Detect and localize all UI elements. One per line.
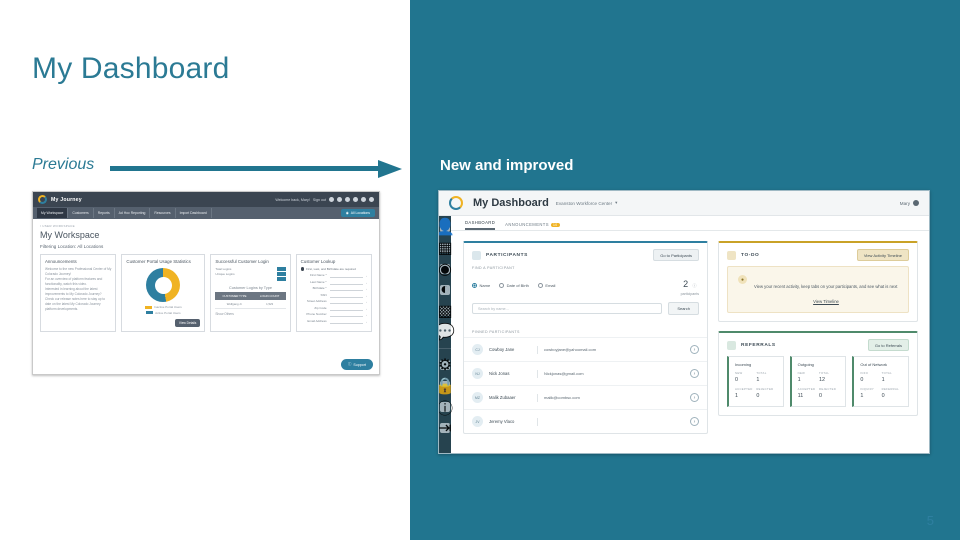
participant-count-block: 2 ⓘ participants [681,274,699,296]
stat-value: 0 [756,394,777,400]
avatar [913,200,919,206]
stat-key: NEW [735,371,756,375]
lookup-field-7[interactable]: Email Address› [301,320,367,324]
announcements-badge: 10 [551,223,560,227]
col-customer-type: CUSTOMER TYPE [215,292,253,300]
user-name: Mary [900,201,910,206]
go-to-participants-button[interactable]: Go to Participants [653,249,699,261]
all-locations-label: All Locations [351,211,370,215]
list-item[interactable]: CJ Cowboy Jane cowboyjane@yahoomail.com … [464,337,707,361]
participant-name: Malik Zubaaer [489,395,531,400]
old-nav-item-3[interactable]: Ad Hoc Reporting [115,208,151,218]
usage-legend: Inactive Portal Users Active Portal User… [126,305,200,315]
lookup-field-6[interactable]: Phone Number› [301,313,367,317]
chevron-down-icon: › [366,281,367,285]
input-street-address[interactable] [330,300,363,304]
chevron-down-icon: › [366,320,367,324]
radio-date-of-birth[interactable]: Date of Birth [499,283,529,288]
label-ssn: SSN [301,294,327,297]
lookup-field-1[interactable]: Last Name *› [301,281,367,285]
slide-page-number: 5 [927,513,934,528]
legend-swatch-active [146,311,153,314]
list-item[interactable]: NJ Nick Jonas Nickjonas@gmail.com › [464,361,707,385]
stat-value: 0 [882,394,903,400]
participants-card-body: FIND A PARTICIPANT Name [464,266,707,323]
tools-icon[interactable] [353,197,358,202]
welcome-text: Welcome back, Mary! [275,198,309,202]
participant-name: Jeremy Vlaco [489,419,531,424]
support-label: Support [353,363,366,367]
chevron-down-icon: › [366,294,367,298]
lookup-field-0[interactable]: First Name *› [301,274,367,278]
usage-donut-chart [146,268,180,302]
radio-email[interactable]: Email [538,283,556,288]
stat-value: 0 [860,378,881,384]
logins-by-type-title: Customer Logins by Type [215,286,285,290]
old-brand-name: My Journey [51,197,82,203]
radio-name-label: Name [480,283,491,288]
tab-announcements-label: ANNOUNCEMENTS [505,222,549,227]
todo-card-body: ● View your recent activity, keep tabs o… [719,266,917,321]
sidebar-gear-icon[interactable]: ⚙ [440,360,450,370]
avatar: JV [472,416,483,427]
participants-title: PARTICIPANTS [486,253,528,258]
stat-value: 1 [860,394,881,400]
tab-announcements[interactable]: ANNOUNCEMENTS10 [505,222,559,230]
transition-arrow-icon [110,160,410,178]
referral-stat-grid: INFO TOTAL 0 1 INQUIRY REFERRAL 1 0 [860,371,903,400]
old-nav-item-2[interactable]: Reports [94,208,115,218]
sidebar-person-icon[interactable]: 👤 [440,222,450,232]
help-icon[interactable] [329,197,334,202]
stat-key: INQUIRY [860,387,881,391]
workspace-heading: My Workspace [40,230,372,240]
old-nav-item-5[interactable]: Import Dashboard [176,208,212,218]
radio-name-dot [472,283,477,288]
participant-name: Cowboy Jane [489,347,531,352]
previous-dashboard-screenshot: My Journey Welcome back, Mary! Sign out … [32,191,380,375]
new-label: New and improved [440,157,573,174]
lookup-title: Customer Lookup [301,259,367,264]
participant-count-row: 2 ⓘ [681,274,699,292]
content-tabs: DASHBOARD ANNOUNCEMENTS10 [451,216,930,231]
view-details-button[interactable]: View Details [175,319,200,327]
participants-icon [472,251,481,260]
stat-key: TOTAL [882,371,903,375]
participants-column: PARTICIPANTS Go to Participants FIND A P… [463,241,708,443]
label-email-address: Email Address [301,320,327,323]
label-first-name: First Name * [301,274,327,277]
announcement-line-1: For an overview of platform features and… [45,277,111,287]
avatar: CJ [472,344,483,355]
referral-card-out-of-network: Out of Network INFO TOTAL 0 1 INQUIRY RE… [852,356,909,407]
lookup-field-3[interactable]: SSN› [301,294,367,298]
old-top-bar: My Journey Welcome back, Mary! Sign out [33,192,379,207]
old-nav-item-1[interactable]: Customers [68,208,93,218]
print-icon[interactable] [345,197,350,202]
new-dashboard-screenshot: My Dashboard Evanston Workforce Center ▾… [438,190,930,454]
announcement-line-3: Check our release notes here to stay up … [45,297,111,312]
bell-icon: ● [738,275,747,284]
arrow-line [110,166,382,171]
legend-label-inactive: Inactive Portal Users [154,305,182,309]
radio-name[interactable]: Name [472,283,490,288]
sidebar-logout-icon[interactable]: ⇥ [440,423,450,433]
radio-dob-label: Date of Birth [507,283,529,288]
avatar: NJ [472,368,483,379]
pinned-participants-label: PINNED PARTICIPANTS [464,323,707,337]
lookup-note: First, Last, and Birthdate are required [301,267,367,271]
list-item[interactable]: MZ Malik Zubaaer malik@combsc.com › [464,385,707,409]
login-stat-1: Unique Logins [215,272,234,277]
stat-value: 11 [798,394,819,400]
usage-statistics-card: Customer Portal Usage Statistics Inactiv… [121,254,205,332]
stat-value: 12 [819,378,840,384]
legend-item-active: Active Portal Users [146,311,181,315]
gear-icon[interactable] [337,197,342,202]
referrals-card: REFERRALS Go to Referrals Incoming NEW [718,331,918,416]
sidebar-pie-icon[interactable]: ◐ [440,285,450,295]
referrals-title: REFERRALS [741,343,776,348]
participant-search-row: Search by name... Search [472,302,699,315]
referral-card-title: Out of Network [860,362,903,367]
input-last-name[interactable] [330,281,363,285]
old-top-right-area: Welcome back, Mary! Sign out [275,197,374,202]
my-journey-logo-icon [38,195,47,204]
new-app-main: 👤 ▦ ◉ ◐ ▩ 💬 ⚙ 🔒 ⓘ ⇥ DASHBOARD ANNOUNCEME… [439,216,929,454]
breadcrumb: / USER WORKSPACE [40,224,372,228]
stat-key: NEW [798,371,819,375]
label-street-address: Street Address [301,300,327,303]
referral-stat-grid: NEW TOTAL 1 12 ACCEPTED REJECTED 11 0 [798,371,841,400]
legend-label-active: Active Portal Users [155,311,181,315]
usage-title: Customer Portal Usage Statistics [126,259,200,264]
go-to-referrals-button[interactable]: Go to Referrals [868,339,909,351]
announcement-line-2: Interested in learning about the latest … [45,287,111,297]
cell-type: Wolfgang Jr. [215,300,253,309]
lookup-field-5[interactable]: Zip Code› [301,307,367,311]
cell-count: 1,523 [254,300,286,309]
legend-swatch-inactive [145,306,152,309]
participant-count: 2 [683,279,688,289]
col-login-count: LOGIN COUNT [254,292,286,300]
input-ssn[interactable] [330,294,363,298]
view-timeline-link[interactable]: View Timeline [754,299,898,304]
stat-value: 1 [798,378,819,384]
chevron-down-icon: › [366,274,367,278]
old-body: / USER WORKSPACE My Workspace Filtering … [33,219,379,337]
radio-dob-dot [499,283,504,288]
page-title: My Dashboard [32,52,230,86]
stat-value: 0 [735,378,756,384]
avatar: MZ [472,392,483,403]
app-logo-icon [449,196,463,210]
todo-card-header: TO-DO View Activity Timeline [719,243,917,266]
chevron-down-icon: › [366,300,367,304]
view-activity-timeline-button[interactable]: View Activity Timeline [857,249,909,261]
divider [537,346,538,354]
chevron-down-icon[interactable]: ▾ [615,200,617,206]
support-button[interactable]: ⓘ Support [341,359,373,370]
search-mode-radios: Name Date of Birth Email [472,283,555,288]
todo-referrals-column: TO-DO View Activity Timeline ● View your… [718,241,918,443]
participant-email: malik@combsc.com [544,395,580,400]
input-first-name[interactable] [330,274,363,278]
filter-text: Filtering Location: All Locations [40,244,372,249]
info-icon [301,267,305,271]
chevron-down-icon: › [366,313,367,317]
chevron-down-icon: › [366,307,367,311]
participant-name: Nick Jonas [489,371,531,376]
referral-card-title: Outgoing [798,362,841,367]
participant-email: cowboyjane@yahoomail.com [544,347,596,352]
todo-message: View your recent activity, keep tabs on … [754,284,897,289]
chevron-down-icon: › [366,287,367,291]
stat-value: 1 [756,378,777,384]
divider [537,394,538,402]
stat-key: ACCEPTED [735,387,756,391]
sidebar-info-icon[interactable]: ⓘ [440,402,450,412]
go-to-participant-icon[interactable]: › [690,417,699,426]
old-nav-item-0[interactable]: My Workspace [37,208,68,218]
todo-icon [727,251,736,260]
show-others-link[interactable]: Show Others [215,312,285,317]
input-zip-code[interactable] [330,307,363,311]
referral-stat-cards: Incoming NEW TOTAL 0 1 ACCEPTED REJECTED [727,356,909,407]
sidebar-bar-chart-icon[interactable]: ▩ [440,306,450,316]
announcements-title: Announcements [45,259,111,264]
sidebar-divider [439,348,451,349]
sidebar-lock-icon[interactable]: 🔒 [440,381,450,391]
referral-stat-grid: NEW TOTAL 0 1 ACCEPTED REJECTED 1 0 [735,371,778,400]
user-menu[interactable]: Mary [900,200,919,206]
table-header-row: CUSTOMER TYPE LOGIN COUNT [215,292,285,300]
stat-value: 0 [819,394,840,400]
participants-card-header: PARTICIPANTS Go to Participants [464,243,707,266]
announcements-card: Announcements Welcome to the new Profess… [40,254,116,332]
customer-lookup-card: Customer Lookup First, Last, and Birthda… [296,254,372,332]
todo-title: TO-DO [741,253,759,258]
old-nav-item-4[interactable]: Resources [150,208,175,218]
input-email-address[interactable] [330,320,363,324]
stat-value: 1 [882,378,903,384]
lookup-note-text: First, Last, and Birthdate are required [306,267,356,271]
stat-key: TOTAL [819,371,840,375]
list-item[interactable]: JV Jeremy Vlaco › [464,409,707,433]
participant-count-label: participants [681,292,699,296]
all-locations-button[interactable]: ◉ All Locations [341,209,375,217]
go-to-participant-icon[interactable]: › [690,345,699,354]
login-mini-chart-icon [277,267,286,282]
label-zip-code: Zip Code [301,307,327,310]
todo-card: TO-DO View Activity Timeline ● View your… [718,241,918,322]
stat-key: ACCEPTED [798,387,819,391]
sidebar-grid-icon[interactable]: ▦ [440,243,450,253]
referral-card-title: Incoming [735,362,778,367]
successful-login-card: Successful Customer Login Total Logins U… [210,254,290,332]
divider [537,370,538,378]
radio-email-label: Email [545,283,555,288]
login-title: Successful Customer Login [215,259,285,264]
referral-card-outgoing: Outgoing NEW TOTAL 1 12 ACCEPTED REJECTE… [790,356,847,407]
referral-card-incoming: Incoming NEW TOTAL 0 1 ACCEPTED REJECTED [727,356,784,407]
label-phone-number: Phone Number [301,313,327,316]
lookup-field-4[interactable]: Street Address› [301,300,367,304]
participants-card: PARTICIPANTS Go to Participants FIND A P… [463,241,708,434]
label-birthdate: Birthdate * [301,287,327,290]
sign-out-link[interactable]: Sign out [313,198,326,202]
referrals-icon [727,341,736,350]
search-button[interactable]: Search [668,302,699,315]
input-phone-number[interactable] [330,313,363,317]
sidebar-clock-icon[interactable]: ◉ [440,264,450,274]
dashboard-columns: PARTICIPANTS Go to Participants FIND A P… [451,231,930,443]
location-pin-icon: ◉ [346,211,349,215]
table-row: Wolfgang Jr. 1,523 [215,300,285,309]
divider [537,418,538,426]
search-input[interactable]: Search by name... [472,303,662,314]
logins-table: CUSTOMER TYPE LOGIN COUNT Wolfgang Jr. 1… [215,292,285,309]
legend-item-inactive: Inactive Portal Users [145,305,182,309]
stat-key: TOTAL [756,371,777,375]
participant-email: Nickjonas@gmail.com [544,371,584,376]
previous-label: Previous [32,156,94,174]
lookup-field-2[interactable]: Birthdate *› [301,287,367,291]
radio-email-dot [538,283,543,288]
input-birthdate[interactable] [330,287,363,291]
todo-message-wrap: View your recent activity, keep tabs on … [754,275,898,304]
new-app-title: My Dashboard [473,197,549,209]
new-app-content: DASHBOARD ANNOUNCEMENTS10 PARTICIPANTS G… [451,216,930,454]
org-selector-label[interactable]: Evanston Workforce Center [556,201,612,206]
left-sidebar: 👤 ▦ ◉ ◐ ▩ 💬 ⚙ 🔒 ⓘ ⇥ [439,216,451,454]
sidebar-chat-icon[interactable]: 💬 [440,327,450,337]
arrow-head [378,160,402,178]
support-icon: ⓘ [348,362,352,367]
stat-value: 1 [735,394,756,400]
stat-key: INFO [860,371,881,375]
stat-key: REJECTED [819,387,840,391]
old-card-row: Announcements Welcome to the new Profess… [40,254,372,332]
info-icon[interactable]: ⓘ [693,283,697,288]
referrals-card-header: REFERRALS Go to Referrals [719,333,917,356]
find-participant-label: FIND A PARTICIPANT [472,266,699,270]
label-last-name: Last Name * [301,281,327,284]
tab-dashboard[interactable]: DASHBOARD [465,220,495,230]
go-to-participant-icon[interactable]: › [690,369,699,378]
old-nav-bar: My Workspace Customers Reports Ad Hoc Re… [33,207,379,219]
stat-key: REJECTED [756,387,777,391]
todo-empty-state: ● View your recent activity, keep tabs o… [727,266,909,313]
user-icon[interactable] [361,197,366,202]
new-app-header: My Dashboard Evanston Workforce Center ▾… [439,191,929,216]
referrals-card-body: Incoming NEW TOTAL 0 1 ACCEPTED REJECTED [719,356,917,415]
stat-key: REFERRAL [882,387,903,391]
login-stats: Total Logins Unique Logins [215,267,234,277]
slide-root: My Dashboard Previous New and improved 5… [0,0,960,540]
search-icon[interactable] [369,197,374,202]
go-to-participant-icon[interactable]: › [690,393,699,402]
announcement-line-0: Welcome to the new Professional Center o… [45,267,111,277]
